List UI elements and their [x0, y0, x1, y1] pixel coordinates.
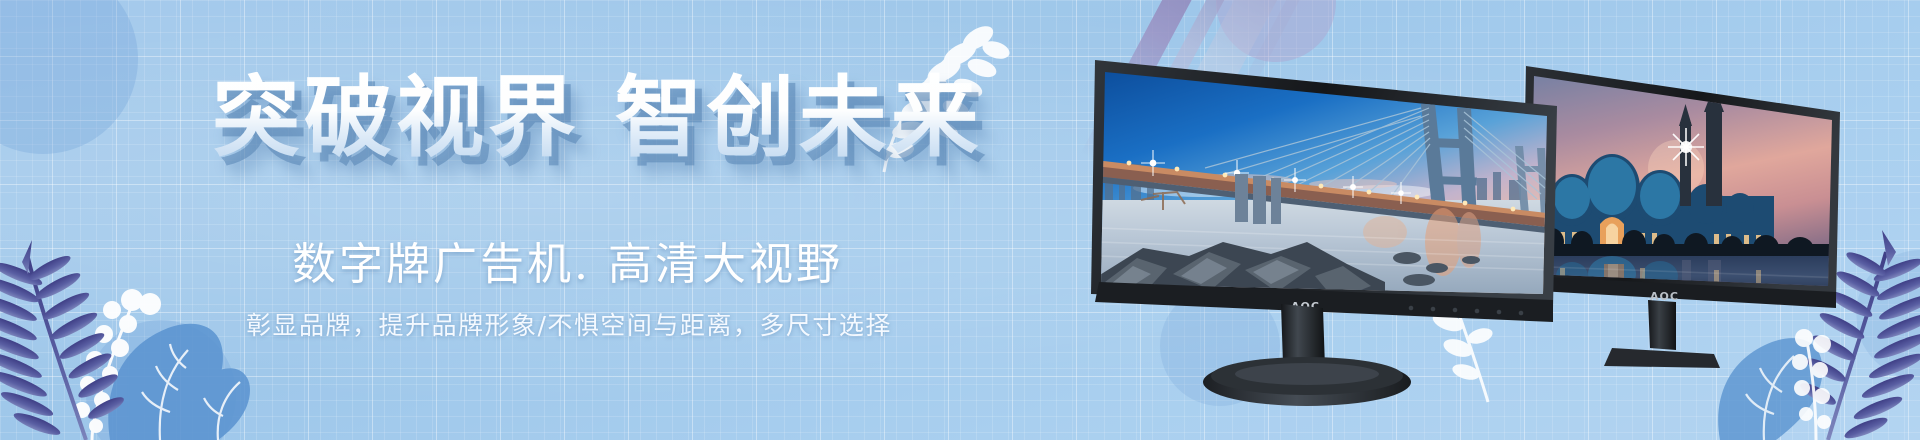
copy-block: 突破视界 智创未来 数字牌广告机. 高清大视野 彰显品牌，提升品牌形象/不惧空间…	[0, 0, 930, 440]
page-title: 突破视界 智创未来	[212, 72, 983, 164]
tagline: 彰显品牌，提升品牌形象/不惧空间与距离，多尺寸选择	[246, 306, 892, 342]
subtitle: 数字牌广告机. 高清大视野	[292, 228, 843, 292]
monitor-front[interactable]: AOC	[1085, 42, 1565, 412]
promo-banner: AOC	[0, 0, 1920, 440]
